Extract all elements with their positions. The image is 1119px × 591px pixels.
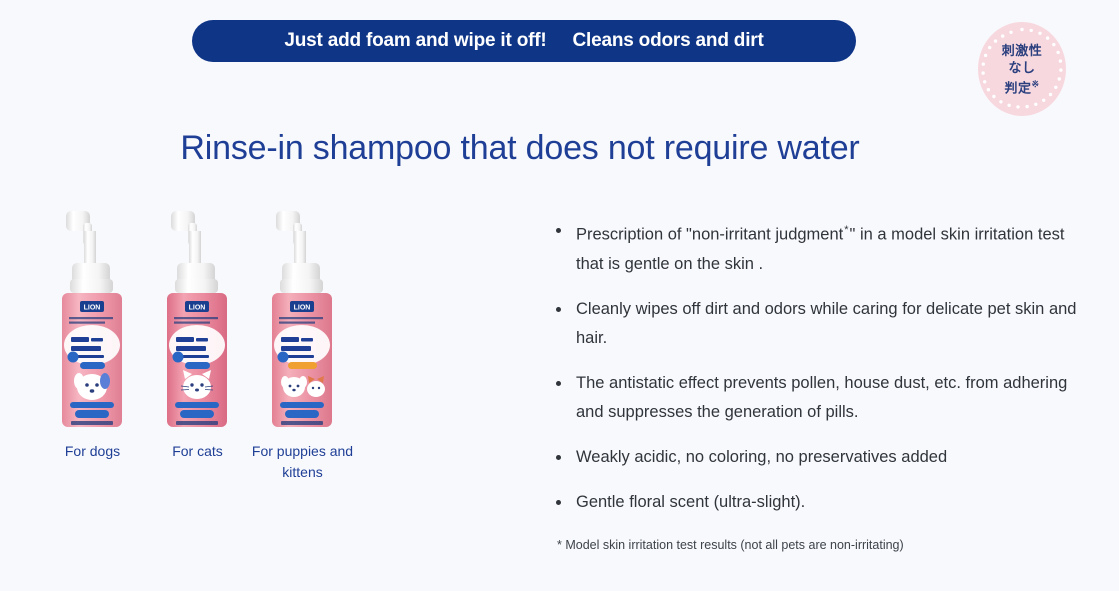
list-item: Cleanly wipes off dirt and odors while c… <box>552 295 1082 353</box>
promo-banner-row: Just add foam and wipe it off! Cleans od… <box>0 20 1119 64</box>
feature-text-pre: Weakly acidic, no coloring, no preservat… <box>576 448 947 466</box>
list-item: The antistatic effect prevents pollen, h… <box>552 369 1082 427</box>
promo-banner-left-text: Just add foam and wipe it off! <box>284 30 546 52</box>
badge-line-2: なし <box>1008 59 1035 76</box>
product-card-cats[interactable]: LION <box>145 205 250 462</box>
badge-line-1: 刺激性 <box>1002 42 1043 59</box>
list-item: Gentle floral scent (ultra-slight). <box>552 488 1082 517</box>
svg-text:LION: LION <box>188 305 205 312</box>
feature-list: Prescription of "non-irritant judgment*"… <box>552 216 1082 533</box>
product-card-puppies-kittens[interactable]: LION <box>250 205 355 483</box>
page-title: Rinse-in shampoo that does not require w… <box>0 129 1040 168</box>
feature-text-pre: Prescription of "non-irritant judgment <box>576 226 843 244</box>
feature-text-pre: The antistatic effect prevents pollen, h… <box>576 374 1067 421</box>
svg-text:LION: LION <box>293 305 310 312</box>
product-caption-cats: For cats <box>172 441 223 462</box>
badge-reference-mark: ※ <box>1031 79 1039 89</box>
badge-line-3-text: 判定 <box>1004 80 1031 95</box>
svg-text:LION: LION <box>83 305 100 312</box>
promo-banner-right-text: Cleans odors and dirt <box>573 30 764 52</box>
feature-text-pre: Gentle floral scent (ultra-slight). <box>576 493 805 511</box>
list-item: Weakly acidic, no coloring, no preservat… <box>552 443 1082 472</box>
footnote: * Model skin irritation test results (no… <box>557 536 904 554</box>
bottle-image-dogs: LION <box>54 205 132 433</box>
product-card-dogs[interactable]: LION <box>40 205 145 462</box>
feature-text-pre: Cleanly wipes off dirt and odors while c… <box>576 300 1076 347</box>
product-caption-puppies-kittens: For puppies and kittens <box>250 441 355 483</box>
bottle-image-puppies-kittens: LION <box>264 205 342 433</box>
product-lineup: LION <box>40 205 370 483</box>
product-caption-dogs: For dogs <box>65 441 120 462</box>
non-irritant-badge: 刺激性 なし 判定※ <box>978 22 1066 116</box>
promo-banner: Just add foam and wipe it off! Cleans od… <box>192 20 856 62</box>
list-item: Prescription of "non-irritant judgment*"… <box>552 216 1082 279</box>
bottle-image-cats: LION <box>159 205 237 433</box>
badge-line-3: 判定※ <box>1004 76 1039 96</box>
